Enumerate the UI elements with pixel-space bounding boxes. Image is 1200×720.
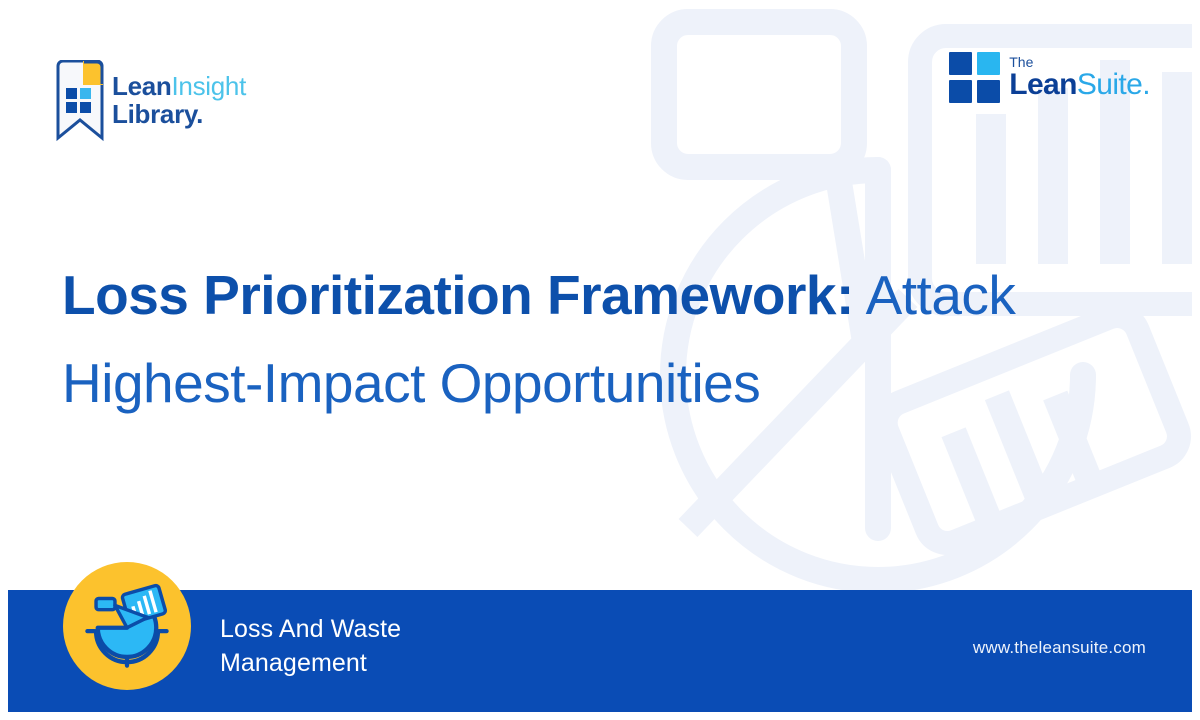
page-title-bold: Loss Prioritization Framework: — [62, 264, 854, 326]
grid-square-tr — [977, 52, 1000, 75]
category-badge — [63, 562, 191, 690]
leansuite-grid-icon — [949, 52, 1000, 103]
leansuite-lean-text: Lean — [1009, 68, 1077, 101]
slide-root: LeanInsight Library. The LeanSuite. Loss… — [0, 0, 1200, 720]
page-title: Loss Prioritization Framework: Attack Hi… — [62, 251, 1022, 427]
pie-bar-chart-icon — [84, 583, 170, 669]
logo-insight-text: Insight — [171, 71, 246, 101]
leansuite-suite-text: Suite. — [1077, 68, 1150, 101]
leansuite-name: LeanSuite. — [1009, 70, 1150, 100]
logo-line-2: Library. — [112, 100, 246, 128]
slide-canvas: LeanInsight Library. The LeanSuite. Loss… — [8, 8, 1192, 712]
bookmark-grid-icon — [54, 60, 106, 142]
footer-category-label: Loss And Waste Management — [220, 612, 401, 680]
leaninsight-wordmark: LeanInsight Library. — [112, 72, 246, 128]
grid-square-bl — [949, 80, 972, 103]
grid-square-br — [977, 80, 1000, 103]
footer-website-url[interactable]: www.theleansuite.com — [973, 638, 1146, 658]
leansuite-the-text: The — [1009, 55, 1150, 69]
logo-lean-text: Lean — [112, 71, 171, 101]
leaninsight-library-logo[interactable]: LeanInsight Library. — [54, 60, 246, 142]
grid-square-tl — [949, 52, 972, 75]
leansuite-wordmark: The LeanSuite. — [1009, 55, 1150, 100]
logo-line-1: LeanInsight — [112, 72, 246, 100]
leansuite-logo[interactable]: The LeanSuite. — [949, 52, 1150, 103]
